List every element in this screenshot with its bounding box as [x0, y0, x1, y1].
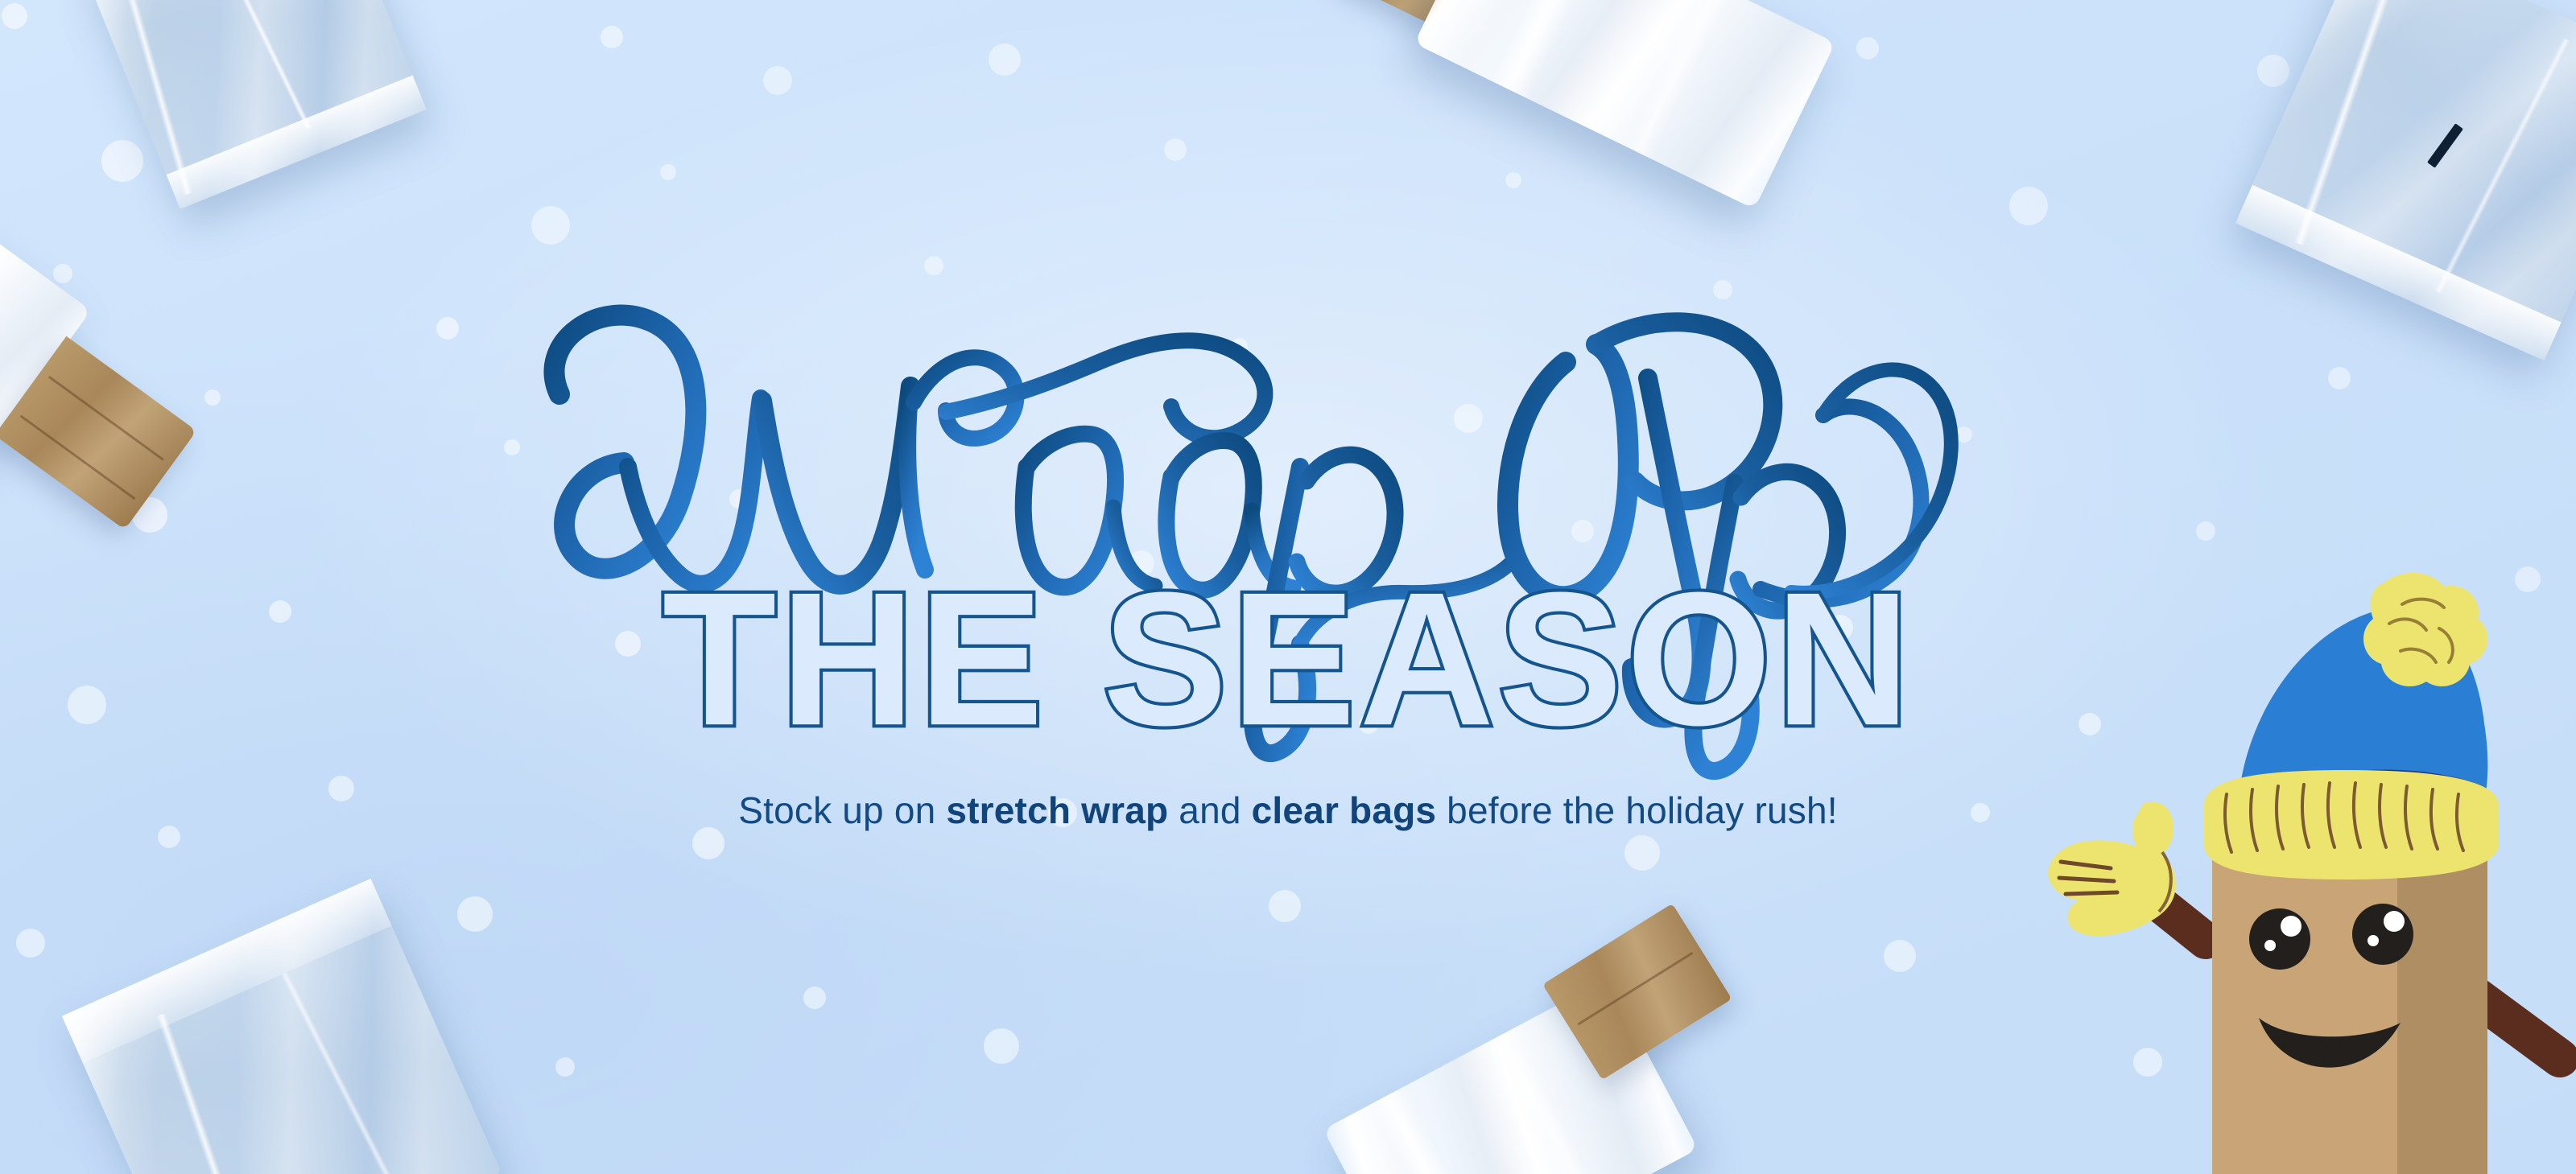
snow-dot: [269, 600, 291, 623]
bag-crease: [156, 1013, 254, 1174]
snow-dot: [660, 164, 676, 180]
roll-cardboard-core: [0, 336, 196, 530]
snow-dot: [1624, 835, 1660, 871]
snow-dot: [984, 1028, 1019, 1064]
poly-bag-top-left: [80, 0, 427, 209]
bag-tick-mark: [2427, 123, 2463, 168]
snow-dot: [877, 684, 894, 700]
snow-dot: [531, 206, 570, 245]
roll-sheen: [1488, 1029, 1603, 1174]
mascot-eye-left: [2249, 908, 2310, 970]
snow-dot: [1884, 940, 1916, 972]
snow-dot: [803, 987, 826, 1009]
snow-dot: [68, 686, 106, 724]
mascot-hat-brim: [2204, 770, 2499, 879]
roll-film: [1323, 978, 1698, 1174]
snow-dot: [2462, 224, 2497, 259]
stretch-wrap-roll-bottom-center: [1315, 919, 1776, 1174]
roll-sheen: [1489, 0, 1609, 99]
bag-crease: [212, 0, 312, 130]
roll-cardboard-core: [1335, 0, 1518, 38]
snow-dot: [1571, 520, 1594, 542]
snow-dot: [2009, 187, 2048, 225]
snow-dot: [2257, 55, 2289, 87]
snow-dot: [457, 896, 493, 932]
snow-dot: [16, 929, 45, 958]
snow-dot: [504, 439, 520, 455]
snow-dot: [1971, 803, 1990, 822]
roll-sheen: [1368, 1086, 1495, 1174]
bag-crease: [2293, 0, 2405, 245]
zip-bag-bottom-left: [62, 879, 502, 1174]
snow-dot: [204, 389, 221, 406]
snow-dot: [53, 264, 72, 283]
snow-dot: [436, 317, 459, 340]
subtitle-text: before the holiday rush!: [1436, 789, 1838, 831]
outline-headline: THE SEASON: [663, 565, 1914, 755]
snow-dot: [1505, 172, 1521, 188]
subtitle-text: and: [1168, 789, 1251, 831]
bag-crease: [281, 972, 402, 1174]
subtitle-emphasis: clear bags: [1252, 789, 1437, 831]
bag-crease: [2434, 38, 2570, 294]
mascot-box-body: [2212, 828, 2487, 1174]
snow-dot: [1232, 338, 1248, 354]
bag-seal: [167, 75, 427, 208]
snow-dot: [2, 3, 27, 29]
mascot-hat: [2204, 573, 2499, 879]
snow-dot: [763, 66, 792, 95]
snow-dot: [1048, 798, 1077, 827]
roll-film: [1414, 0, 1835, 209]
core-seam: [19, 415, 135, 500]
snow-dot: [158, 826, 180, 848]
roll-cardboard-core: [1542, 904, 1732, 1080]
subtitle-text: Stock up on: [738, 789, 946, 831]
snow-dot: [328, 776, 354, 801]
snow-dot: [101, 140, 143, 182]
snow-dot: [989, 43, 1021, 76]
snow-dot: [924, 256, 943, 275]
snow-dot: [1129, 550, 1154, 576]
bag-seal: [2235, 185, 2562, 360]
roll-film: [0, 145, 91, 473]
poly-bag-right: [2235, 0, 2576, 360]
mascot-eye-right: [2352, 904, 2413, 965]
snow-dot: [1269, 890, 1301, 922]
snow-dot: [1359, 715, 1378, 734]
snow-dot: [1101, 441, 1121, 460]
snow-dot: [729, 489, 749, 509]
snow-dot: [555, 1057, 575, 1077]
snow-dot: [601, 26, 623, 48]
snow-dot: [1827, 615, 1853, 641]
script-headline: [463, 266, 2113, 603]
stretch-wrap-roll-left: [0, 145, 189, 544]
mascot-cardboard-box-character: [2004, 562, 2576, 1174]
snow-dot: [692, 827, 724, 859]
mascot-mitten-icon: [2048, 802, 2176, 937]
roll-sheen: [1625, 0, 1732, 159]
subtitle-emphasis: stretch wrap: [946, 789, 1168, 831]
snow-dot: [1164, 138, 1187, 161]
snow-dot: [132, 497, 167, 533]
snow-dot: [2328, 367, 2351, 389]
promo-banner: THE SEASON Stock up on stretch wrap and …: [0, 0, 2576, 1174]
snow-dot: [2196, 521, 2215, 541]
snow-dot: [229, 1033, 248, 1052]
snow-dot: [1454, 404, 1483, 433]
core-seam: [48, 376, 164, 461]
snow-dot: [1856, 37, 1879, 60]
snow-dot: [1765, 89, 1794, 117]
bag-zip-seal: [62, 879, 392, 1063]
bag-crease: [116, 0, 192, 195]
subtitle: Stock up on stretch wrap and clear bags …: [738, 789, 1838, 832]
stretch-wrap-roll-top-center: [1335, 0, 1821, 202]
snow-dot: [362, 87, 394, 119]
snow-dot: [1956, 426, 1972, 443]
roll-sheen: [0, 231, 2, 408]
snow-dot: [615, 631, 641, 657]
snow-dot: [1713, 280, 1732, 299]
core-seam: [1578, 952, 1693, 1025]
